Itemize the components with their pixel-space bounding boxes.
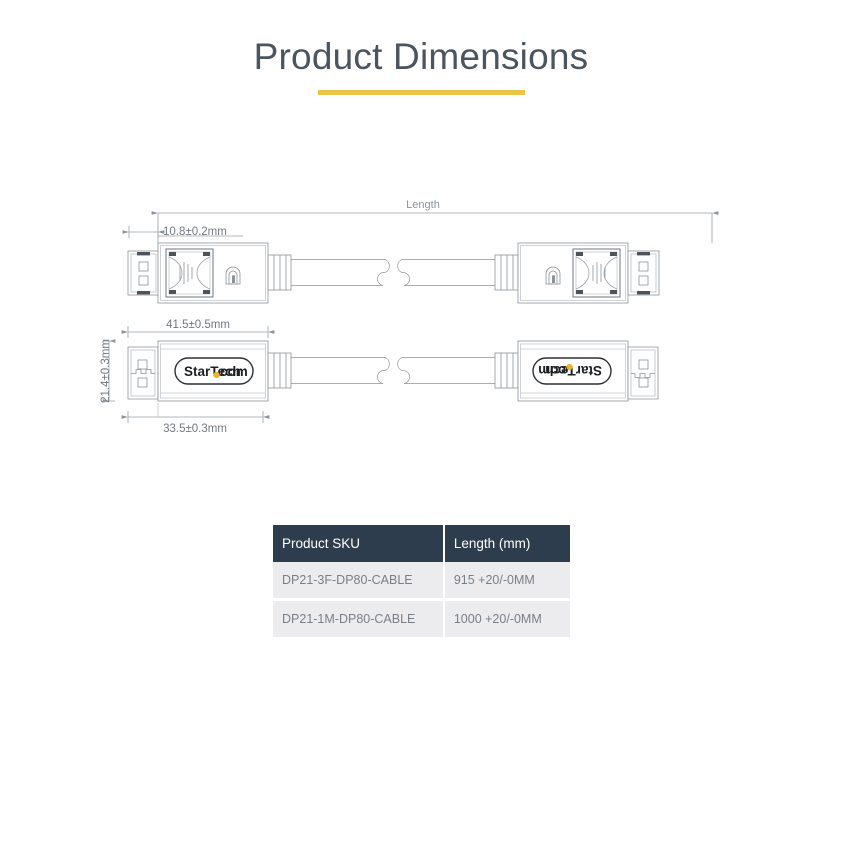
brand-logo-dot-icon (566, 364, 572, 370)
label-housing-length: 41.5±0.5mm (166, 319, 230, 331)
dim-overall-length (158, 213, 712, 243)
cell-sku: DP21-3F-DP80-CABLE (273, 562, 443, 598)
page-title: Product Dimensions (0, 36, 842, 79)
table-header-row: Product SKU Length (mm) (273, 525, 570, 562)
product-spec-table: Product SKU Length (mm) DP21-3F-DP80-CAB… (273, 525, 570, 637)
brand-logo-left: StarTech com (184, 364, 248, 379)
brand-logo-right: StarTech com (538, 363, 602, 378)
side-cable-right (398, 358, 495, 384)
side-cable-left (291, 358, 389, 384)
top-right-connector (495, 243, 659, 303)
brand-logo-text-2: com (220, 364, 248, 379)
dim-body-length (128, 403, 263, 423)
table-row: DP21-1M-DP80-CABLE 1000 +20/-0MM (273, 601, 570, 637)
cell-length: 1000 +20/-0MM (443, 601, 570, 637)
label-body-length: 33.5±0.3mm (163, 423, 227, 435)
cell-sku: DP21-1M-DP80-CABLE (273, 601, 443, 637)
top-left-connector (128, 243, 291, 303)
table-header-length: Length (mm) (443, 525, 570, 562)
table-header-sku: Product SKU (273, 525, 443, 562)
title-block: Product Dimensions (0, 36, 842, 95)
top-cable-right (398, 260, 495, 286)
brand-logo-dot-icon (213, 372, 219, 378)
top-cable-left (291, 260, 389, 286)
label-overall-length: Length (406, 199, 440, 211)
cell-length: 915 +20/-0MM (443, 562, 570, 598)
product-dimensions-page: Product Dimensions (0, 0, 842, 842)
title-accent-underline (318, 90, 525, 95)
brand-logo-text-2: com (538, 363, 566, 378)
diagram-container: Length 10.8±0.2mm 41.5±0.5mm 21.4±0.3mm … (95, 195, 747, 445)
label-connector-depth: 10.8±0.2mm (163, 226, 227, 238)
cable-dimension-svg: Length 10.8±0.2mm 41.5±0.5mm 21.4±0.3mm … (95, 195, 747, 445)
label-housing-height: 21.4±0.3mm (100, 339, 112, 403)
table-row: DP21-3F-DP80-CABLE 915 +20/-0MM (273, 562, 570, 598)
